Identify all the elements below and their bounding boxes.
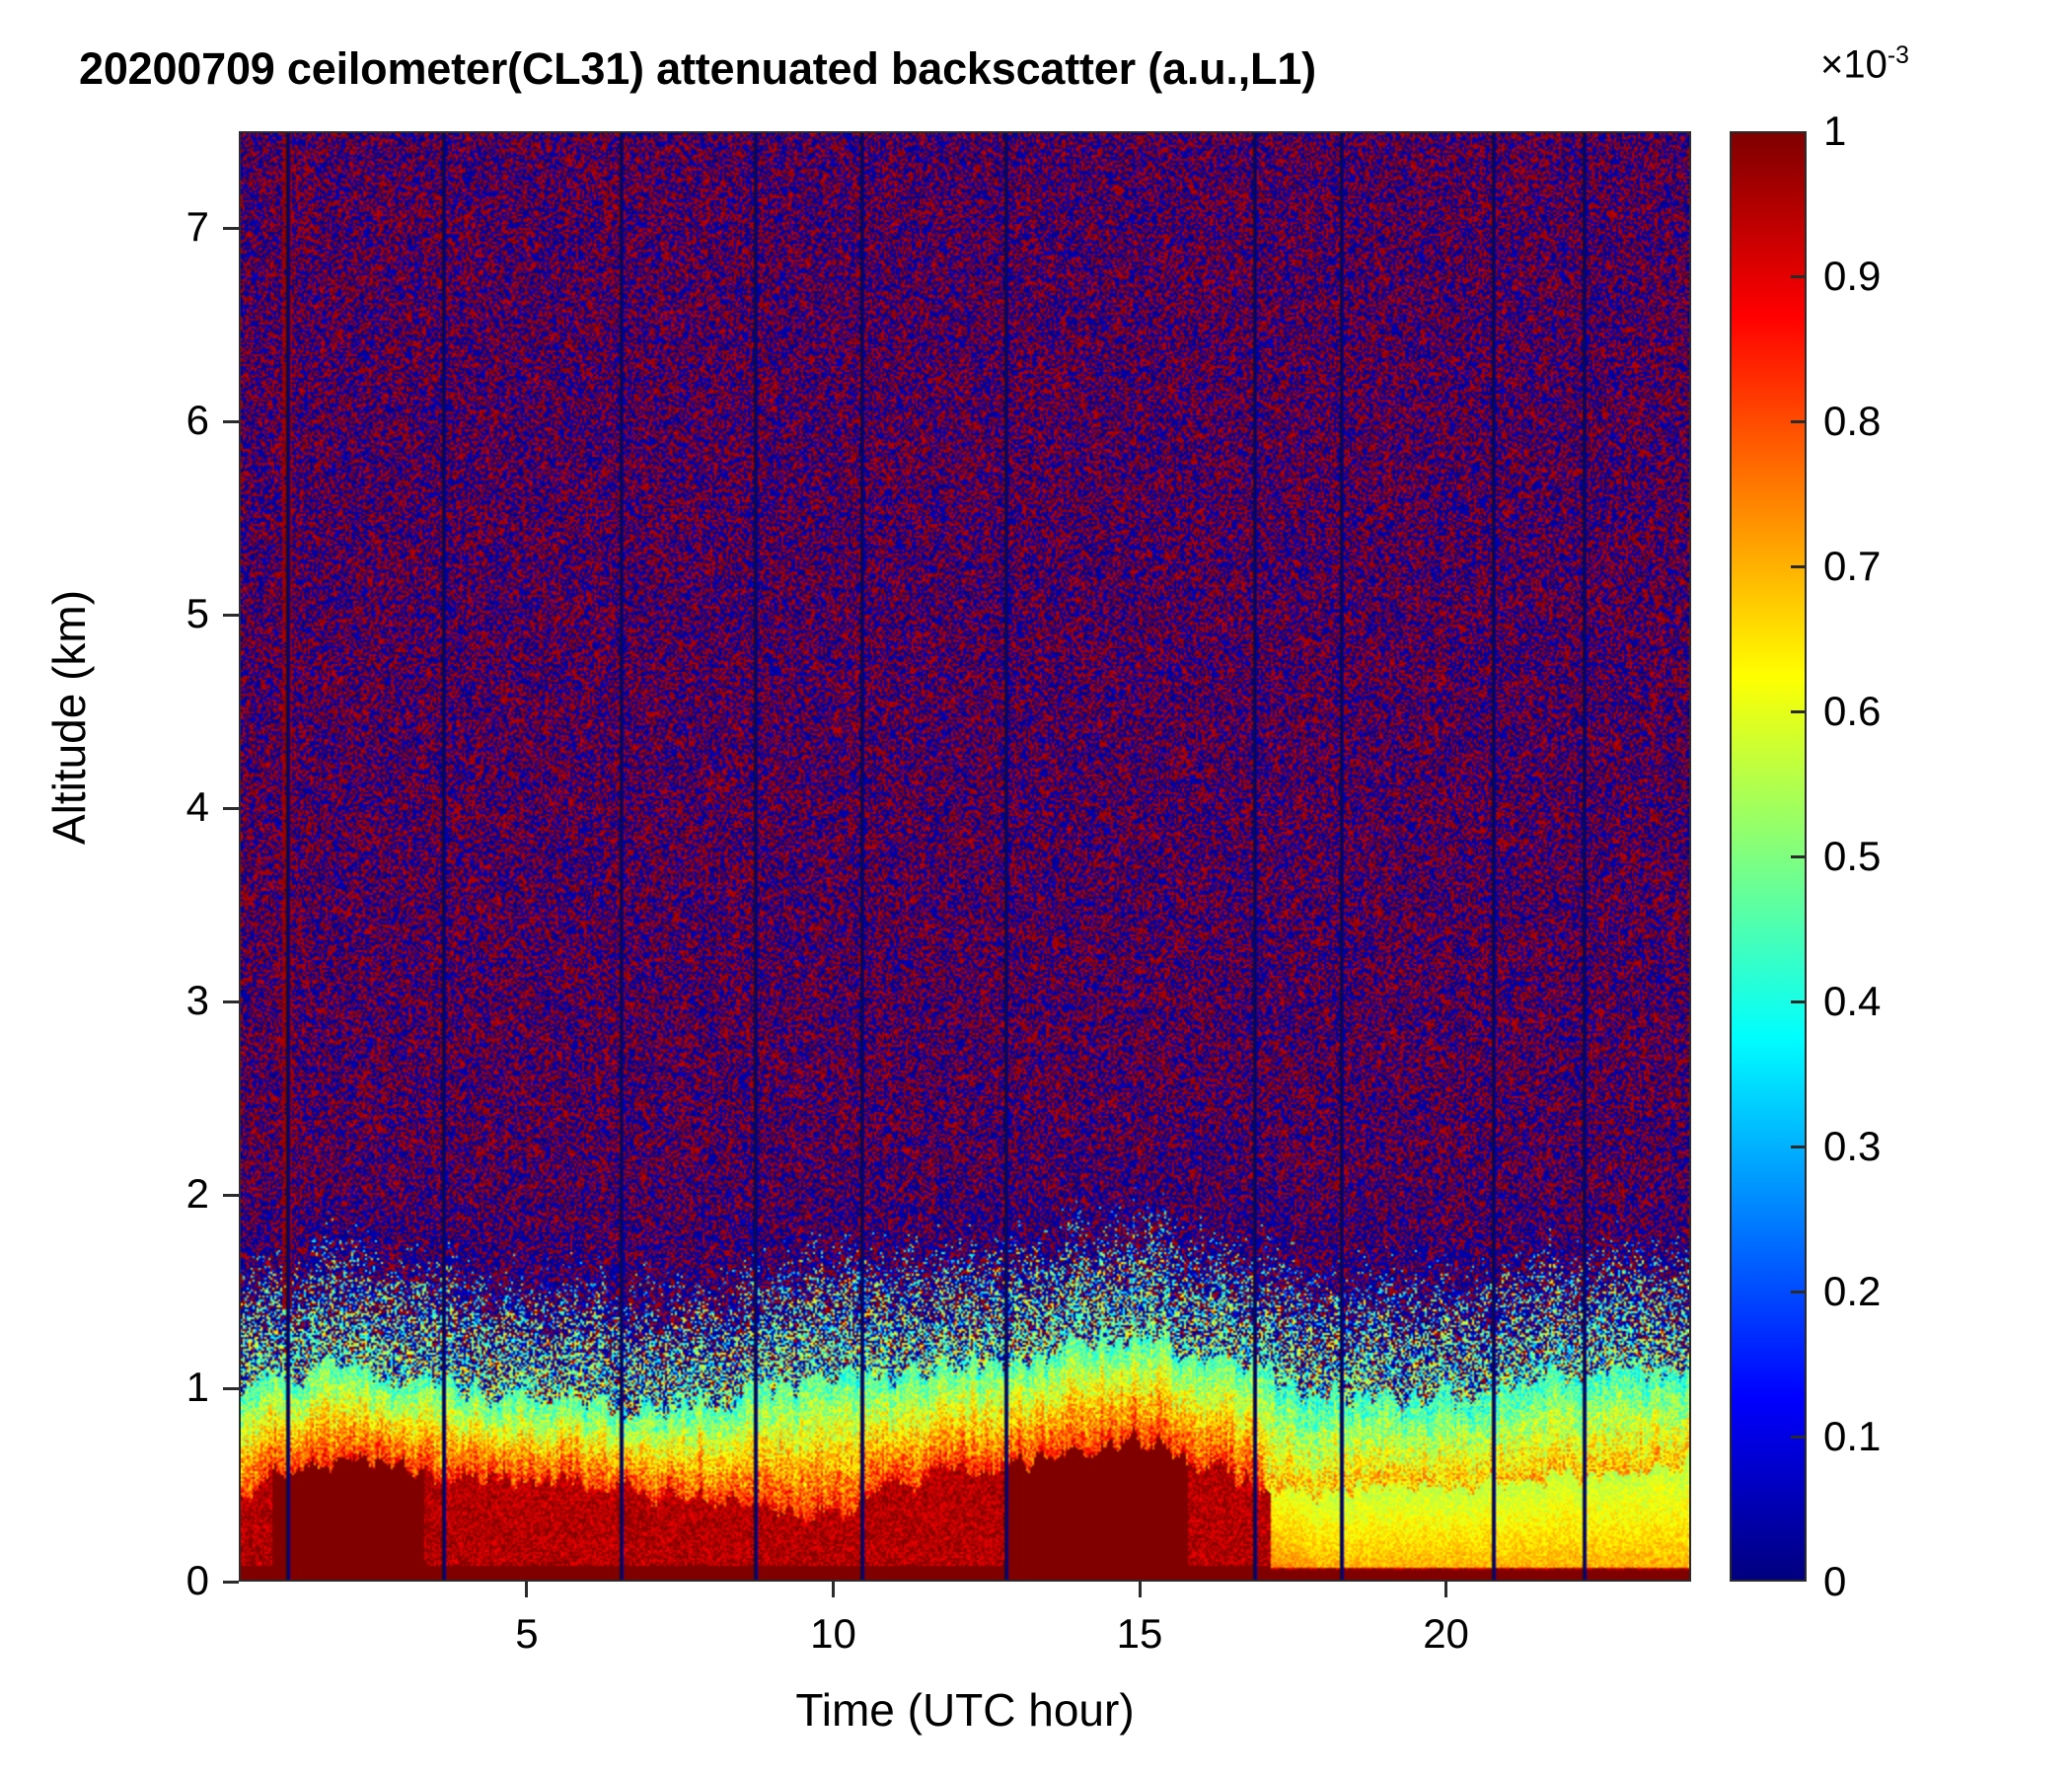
x-tick-mark	[1139, 1582, 1142, 1597]
y-tick-label: 4	[148, 786, 209, 828]
colorbar-exponent-value: -3	[1887, 42, 1909, 69]
colorbar-tick-mark	[1791, 275, 1807, 278]
colorbar-tick-label: 0.4	[1823, 978, 1881, 1025]
y-tick-label: 6	[148, 400, 209, 441]
y-tick-label: 3	[148, 980, 209, 1021]
x-tick-label: 5	[515, 1610, 538, 1658]
x-tick-mark	[832, 1582, 835, 1597]
y-tick-mark	[223, 1000, 239, 1003]
colorbar-tick-label: 0.7	[1823, 543, 1881, 590]
chart-title: 20200709 ceilometer(CL31) attenuated bac…	[79, 43, 1316, 95]
colorbar-tick-label: 1	[1823, 108, 1846, 155]
y-tick-mark	[223, 614, 239, 617]
figure-root: 20200709 ceilometer(CL31) attenuated bac…	[0, 0, 2072, 1776]
colorbar-tick-label: 0	[1823, 1558, 1846, 1605]
colorbar-tick-label: 0.9	[1823, 253, 1881, 300]
colorbar-tick-label: 0.2	[1823, 1268, 1881, 1315]
y-tick-mark	[223, 420, 239, 423]
colorbar-tick-mark	[1791, 1436, 1807, 1439]
colorbar-tick-mark	[1791, 420, 1807, 423]
x-tick-mark	[1444, 1582, 1447, 1597]
colorbar-tick-label: 0.6	[1823, 688, 1881, 735]
y-tick-mark	[223, 1581, 239, 1584]
x-tick-mark	[525, 1582, 528, 1597]
y-tick-label: 5	[148, 593, 209, 634]
x-tick-label: 15	[1117, 1610, 1163, 1658]
colorbar-tick-mark	[1791, 855, 1807, 858]
colorbar-tick-label: 0.1	[1823, 1413, 1881, 1460]
colorbar-tick-mark	[1791, 565, 1807, 568]
colorbar-tick-mark	[1791, 710, 1807, 713]
y-tick-mark	[223, 227, 239, 230]
colorbar-tick-label: 0.8	[1823, 398, 1881, 445]
heatmap-plot-area	[239, 131, 1691, 1582]
x-tick-label: 20	[1423, 1610, 1469, 1658]
colorbar-tick-label: 0.5	[1823, 833, 1881, 880]
colorbar-exponent-label: ×10-3	[1820, 42, 1909, 87]
x-axis-label: Time (UTC hour)	[239, 1683, 1691, 1737]
y-tick-label: 7	[148, 206, 209, 248]
y-axis-label: Altitude (km)	[42, 471, 96, 964]
colorbar-exponent-prefix: ×10	[1820, 42, 1887, 86]
heatmap-canvas	[241, 133, 1689, 1580]
y-tick-mark	[223, 1194, 239, 1197]
x-tick-label: 10	[810, 1610, 856, 1658]
colorbar-tick-label: 0.3	[1823, 1123, 1881, 1170]
colorbar-tick-mark	[1791, 1291, 1807, 1294]
y-tick-label: 2	[148, 1173, 209, 1215]
colorbar-tick-mark	[1791, 1000, 1807, 1003]
colorbar-tick-mark	[1791, 1146, 1807, 1148]
y-tick-label: 1	[148, 1367, 209, 1408]
y-tick-mark	[223, 1387, 239, 1390]
y-tick-mark	[223, 807, 239, 810]
y-tick-label: 0	[148, 1560, 209, 1601]
